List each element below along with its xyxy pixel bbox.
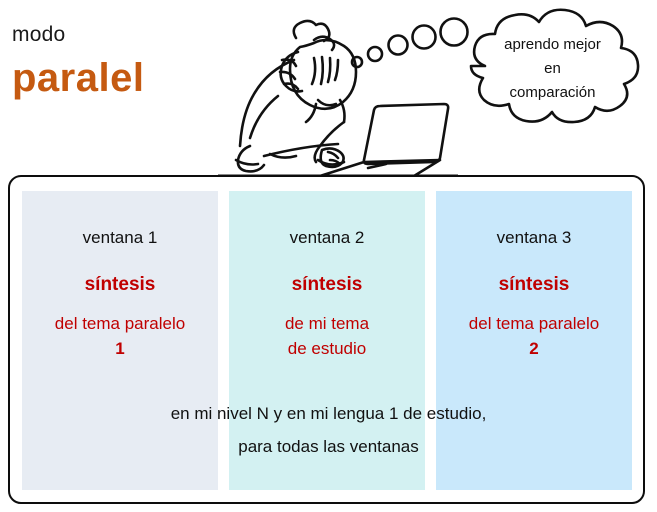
bubble-line-3: comparación <box>470 81 635 105</box>
header-title-block: modo paralel <box>12 22 242 102</box>
synthesis-desc-2-line2: de estudio <box>229 336 425 361</box>
bubble-line-2: en <box>470 57 635 81</box>
window-label-2: ventana 2 <box>229 227 425 249</box>
windows-panel: ventana 1 síntesis del tema paralelo 1 v… <box>8 175 645 504</box>
window-column-3[interactable]: ventana 3 síntesis del tema paralelo 2 <box>436 191 632 490</box>
synthesis-desc-2-line1: de mi tema <box>229 311 425 336</box>
synthesis-desc-3-line1: del tema paralelo <box>436 311 632 336</box>
synthesis-desc-3: del tema paralelo 2 <box>436 311 632 361</box>
synthesis-desc-1-line1: del tema paralelo <box>22 311 218 336</box>
synthesis-title-1: síntesis <box>22 273 218 297</box>
synthesis-desc-2: de mi tema de estudio <box>229 311 425 361</box>
window-column-2[interactable]: ventana 2 síntesis de mi tema de estudio <box>229 191 425 490</box>
synthesis-title-2: síntesis <box>229 273 425 297</box>
synthesis-desc-3-line2: 2 <box>436 336 632 361</box>
window-column-1[interactable]: ventana 1 síntesis del tema paralelo 1 <box>22 191 218 490</box>
synthesis-desc-1: del tema paralelo 1 <box>22 311 218 361</box>
window-label-3: ventana 3 <box>436 227 632 249</box>
thought-bubble-text: aprendo mejor en comparación <box>470 33 635 105</box>
synthesis-title-3: síntesis <box>436 273 632 297</box>
synthesis-desc-1-line2: 1 <box>22 336 218 361</box>
title-modo: modo <box>12 22 242 48</box>
columns-container: ventana 1 síntesis del tema paralelo 1 v… <box>22 191 632 490</box>
title-paralel: paralel <box>12 54 242 102</box>
window-label-1: ventana 1 <box>22 227 218 249</box>
bubble-line-1: aprendo mejor <box>470 33 635 57</box>
